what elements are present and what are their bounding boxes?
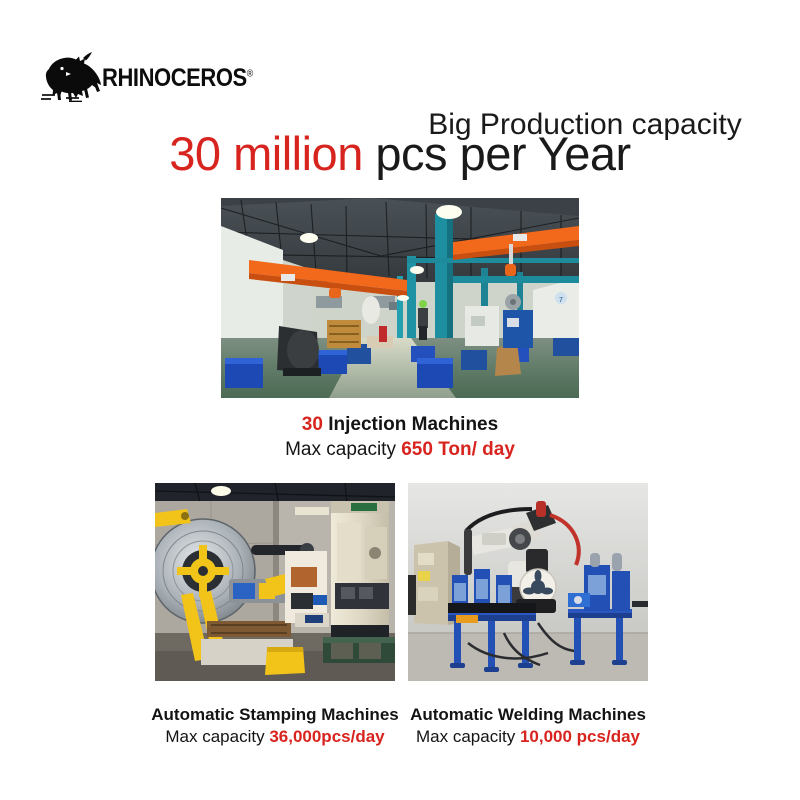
- injection-capacity-value: 650 Ton/ day: [401, 439, 515, 460]
- injection-caption: 30 Injection Machines Max capacity 650 T…: [180, 412, 620, 462]
- welding-capacity-value: 10,000 pcs/day: [520, 727, 640, 746]
- injection-capacity-prefix: Max capacity: [285, 439, 401, 460]
- brand-name-text: RHINOCEROS: [102, 64, 247, 92]
- injection-machine-label: Injection Machines: [323, 414, 498, 435]
- stamping-capacity-prefix: Max capacity: [165, 727, 269, 746]
- svg-text:7: 7: [559, 297, 563, 304]
- stamping-capacity-value: 36,000pcs/day: [269, 727, 384, 746]
- hero-plain-text: pcs per Year: [363, 127, 631, 180]
- injection-caption-line1: 30 Injection Machines: [180, 412, 620, 437]
- injection-caption-line2: Max capacity 650 Ton/ day: [180, 437, 620, 462]
- injection-factory-photo: 7: [221, 198, 579, 398]
- hero-headline: 30 million pcs per Year: [0, 126, 800, 181]
- welding-caption-line1: Automatic Welding Machines: [378, 704, 678, 726]
- registered-mark: ®: [247, 69, 253, 80]
- welding-machine-photo: [408, 483, 648, 681]
- welding-capacity-prefix: Max capacity: [416, 727, 520, 746]
- stamping-machine-photo: [155, 483, 395, 681]
- injection-machine-count: 30: [302, 414, 323, 435]
- hero-accent-text: 30 million: [169, 127, 363, 180]
- brand-wordmark: RHINOCEROS®: [102, 64, 253, 93]
- brand-logo: RHINOCEROS®: [40, 52, 240, 104]
- welding-caption: Automatic Welding Machines Max capacity …: [378, 704, 678, 749]
- rhinoceros-icon: [40, 52, 106, 102]
- page-header: RHINOCEROS® Big Production capacity: [0, 52, 800, 108]
- welding-caption-line2: Max capacity 10,000 pcs/day: [378, 726, 678, 748]
